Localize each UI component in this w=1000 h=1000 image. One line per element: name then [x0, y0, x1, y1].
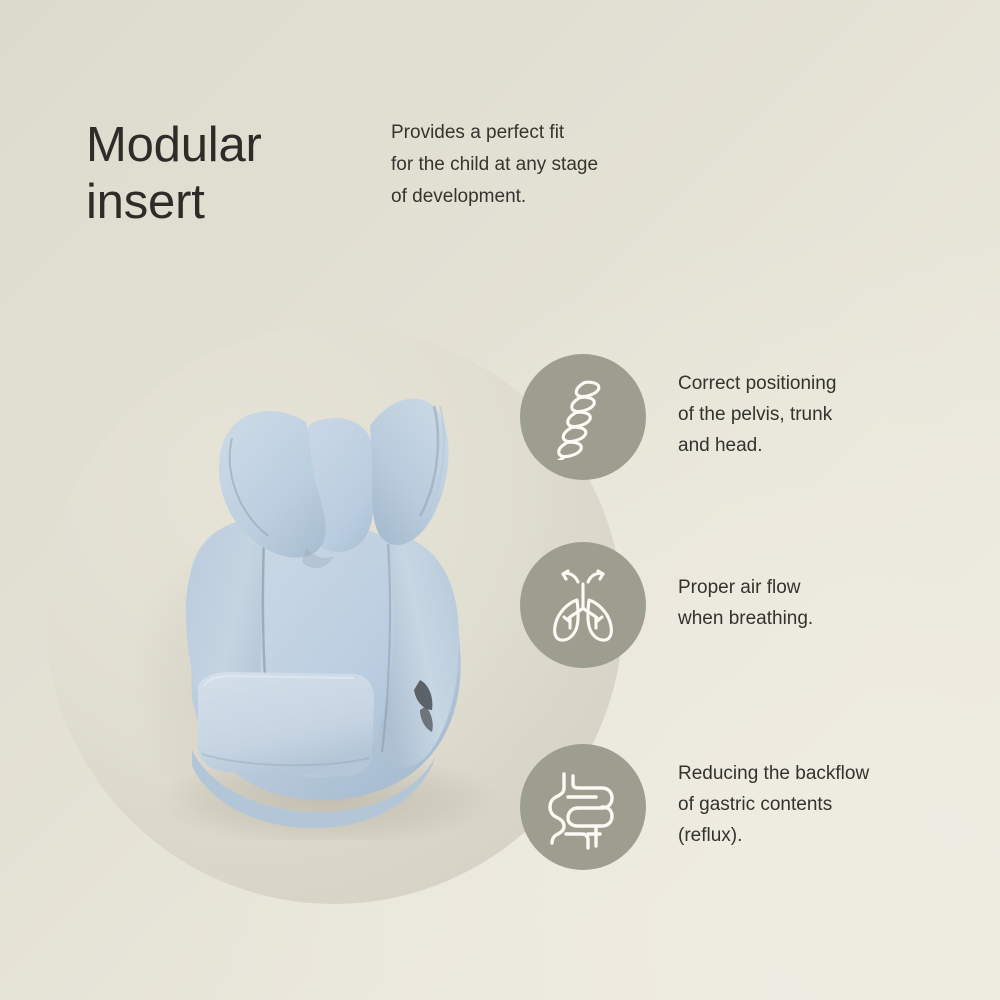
feature-item-intestine: Reducing the backflow of gastric content…	[520, 744, 940, 870]
intro-paragraph: Provides a perfect fit for the child at …	[391, 117, 661, 213]
feature-label: Reducing the backflow of gastric content…	[678, 758, 940, 851]
feature-item-spine: Correct positioning of the pelvis, trunk…	[520, 354, 940, 480]
feature-label: Correct positioning of the pelvis, trunk…	[678, 368, 940, 461]
product-illustration	[120, 380, 520, 840]
feature-icon-circle	[520, 354, 646, 480]
page-title: Modular insert	[86, 117, 386, 231]
feature-icon-circle	[520, 744, 646, 870]
product-image	[120, 380, 520, 840]
feature-icon-circle	[520, 542, 646, 668]
feature-item-lungs: Proper air flow when breathing.	[520, 542, 940, 668]
spine-icon	[540, 374, 626, 460]
modular-insert-infographic: Modular insert Provides a perfect fit fo…	[0, 0, 1000, 1000]
lungs-icon	[540, 562, 626, 648]
intestine-icon	[540, 764, 626, 850]
feature-label: Proper air flow when breathing.	[678, 572, 940, 634]
